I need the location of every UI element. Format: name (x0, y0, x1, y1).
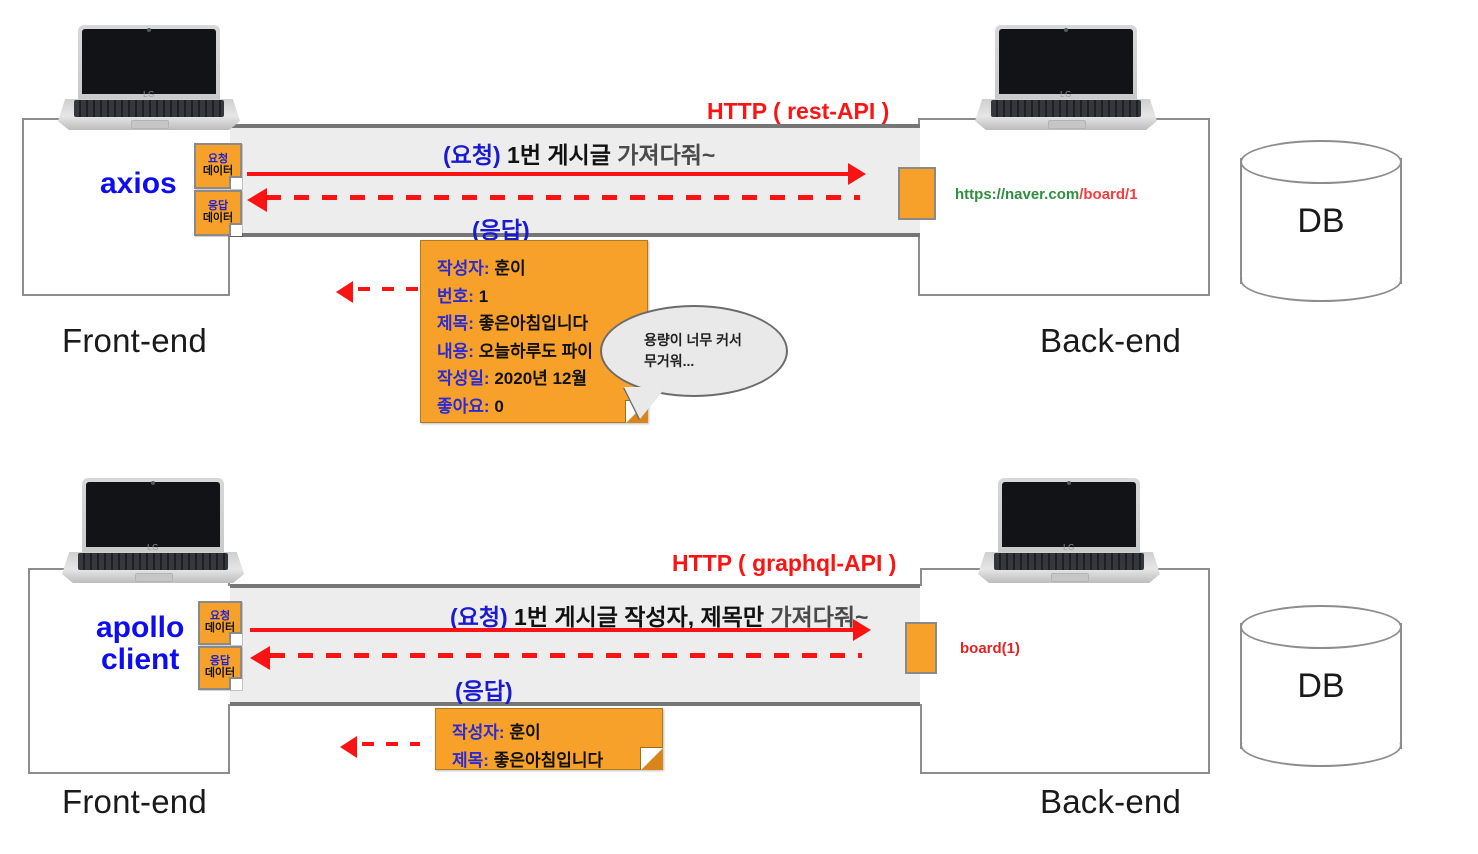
sticky-fold-corner (229, 677, 242, 690)
request-arrow-head-graphql (853, 619, 871, 641)
card-row-value: 훈이 (494, 259, 525, 278)
laptop-camera-icon (1067, 481, 1071, 485)
client-label-line1: apollo (96, 612, 184, 644)
response-arrow-head-rest (247, 188, 267, 212)
laptop-trackpad (1051, 573, 1089, 582)
payload-arrow-head-rest (336, 281, 353, 303)
laptop-keyboard (78, 553, 227, 570)
frontend-label-rest: Front-end (62, 322, 207, 360)
laptop-brand-logo: LG (147, 543, 159, 552)
backend-box-graphql-left-upper (920, 568, 922, 586)
backend-box-rest (918, 118, 1210, 296)
database-cylinder-rest: DB (1240, 140, 1402, 302)
payload-arrow-line-rest (358, 287, 420, 291)
request-message-rest: (요청) 1번 게시글 가져다줘~ (443, 136, 715, 170)
sticky-fold-corner (229, 632, 242, 645)
card-row: 작성자: 훈이 (437, 255, 647, 283)
laptop-lid: LG (78, 25, 220, 101)
response-payload-card-graphql: 작성자: 훈이 제목: 좋은아침입니다 (435, 708, 663, 770)
request-rest: 가져다줘~ (617, 142, 715, 168)
laptop-trackpad (131, 120, 169, 129)
bubble-tail (624, 387, 666, 419)
card-row-label: 작성자: (452, 723, 505, 742)
http-title-rest: HTTP ( rest-API ) (707, 98, 889, 125)
url-base: https://naver.com (955, 186, 1079, 203)
card-row-value: 좋은아침입니다 (494, 751, 603, 770)
laptop-keyboard (991, 100, 1140, 117)
card-row-label: 내용: (437, 342, 474, 361)
complaint-speech-bubble: 용량이 너무 커서 무거워... (600, 305, 788, 397)
card-row-label: 좋아요: (437, 397, 490, 416)
url-path: /board/1 (1079, 186, 1137, 203)
laptop-base (978, 552, 1160, 584)
payload-arrow-line-graphql (362, 742, 420, 746)
sticky-fold-corner (229, 223, 242, 236)
request-arrow-line-graphql (250, 628, 855, 632)
sticky-request-data-graphql: 요청 데이터 (198, 601, 242, 645)
card-row-label: 제목: (452, 751, 489, 770)
card-row-value: 2020년 12월 (494, 369, 587, 388)
db-label: DB (1240, 605, 1402, 767)
request-arrow-head-rest (848, 163, 866, 185)
laptop-trackpad (135, 573, 173, 582)
sticky-request-data-rest: 요청 데이터 (194, 143, 242, 189)
frontend-box-rest-right-lower (228, 233, 230, 296)
endpoint-url-rest: https://naver.com/board/1 (955, 186, 1138, 203)
card-row: 작성자: 훈이 (452, 719, 662, 747)
diagram-canvas: LG LG DB HTTP ( rest-API ) axios 요청 데이터 (0, 0, 1478, 854)
card-row-label: 제목: (437, 314, 474, 333)
backend-label-rest: Back-end (1040, 322, 1181, 360)
client-library-label-apollo: apollo client (96, 612, 184, 675)
response-arrow-head-graphql (250, 646, 270, 670)
frontend-box-graphql-right-lower (228, 704, 230, 774)
card-row-value: 좋은아침입니다 (479, 314, 588, 333)
endpoint-connector-graphql (905, 622, 937, 674)
laptop-backend-rest: LG (975, 25, 1157, 130)
database-cylinder-graphql: DB (1240, 605, 1402, 767)
response-arrow-line-rest (266, 195, 860, 200)
laptop-keyboard (994, 553, 1143, 570)
laptop-screen (82, 29, 216, 94)
card-row-label: 작성자: (437, 259, 490, 278)
card-row-value: 훈이 (509, 723, 540, 742)
laptop-screen (999, 29, 1133, 94)
card-row-value: 1 (479, 287, 488, 306)
endpoint-operation-graphql: board(1) (960, 640, 1020, 657)
card-row-label: 작성일: (437, 369, 490, 388)
frontend-label-graphql: Front-end (62, 783, 207, 821)
laptop-frontend-rest: LG (58, 25, 240, 130)
sticky-response-data-rest: 응답 데이터 (194, 190, 242, 236)
laptop-trackpad (1048, 120, 1086, 129)
laptop-screen (1002, 482, 1136, 547)
laptop-keyboard (74, 100, 223, 117)
card-row-label: 번호: (437, 287, 474, 306)
laptop-camera-icon (151, 481, 155, 485)
laptop-base (975, 99, 1157, 131)
payload-arrow-head-graphql (340, 736, 357, 758)
card-row: 번호: 1 (437, 283, 647, 311)
backend-box-rest-left-lower (918, 233, 920, 296)
laptop-lid: LG (995, 25, 1137, 101)
request-prefix: (요청) (443, 142, 501, 168)
sticky-response-data-graphql: 응답 데이터 (198, 646, 242, 690)
laptop-camera-icon (1064, 28, 1068, 32)
laptop-base (62, 552, 244, 584)
backend-box-graphql-left-lower (920, 704, 922, 774)
client-label-line2: client (96, 644, 184, 676)
laptop-lid: LG (82, 478, 224, 554)
client-library-label-axios: axios (100, 168, 177, 200)
http-title-graphql: HTTP ( graphql-API ) (672, 550, 896, 577)
sticky-fold-corner (229, 176, 242, 189)
card-fold-corner (640, 747, 663, 770)
response-arrow-line-graphql (270, 653, 862, 658)
laptop-brand-logo: LG (1063, 543, 1075, 552)
backend-label-graphql: Back-end (1040, 783, 1181, 821)
db-label: DB (1240, 140, 1402, 302)
request-message-graphql: (요청) 1번 게시글 작성자, 제목만 가져다줘~ (450, 598, 868, 632)
response-label: (응답) (455, 678, 513, 704)
laptop-lid: LG (998, 478, 1140, 554)
card-row-value: 오늘하루도 파이 (479, 342, 593, 361)
laptop-camera-icon (147, 28, 151, 32)
backend-box-graphql (920, 568, 1210, 774)
laptop-base (58, 99, 240, 131)
laptop-backend-graphql: LG (978, 478, 1160, 583)
request-emphasis: 1번 게시글 작성자, 제목만 (514, 604, 764, 630)
laptop-brand-logo: LG (143, 90, 155, 99)
response-message-graphql: (응답) (455, 672, 513, 706)
laptop-screen (86, 482, 220, 547)
card-row: 좋아요: 0 (437, 393, 647, 421)
laptop-frontend-graphql: LG (62, 478, 244, 583)
request-prefix: (요청) (450, 604, 508, 630)
card-row: 제목: 좋은아침입니다 (452, 747, 662, 775)
card-row-value: 0 (494, 397, 503, 416)
request-emphasis: 1번 게시글 (507, 142, 611, 168)
bubble-text: 용량이 너무 커서 무거워... (602, 330, 742, 372)
laptop-brand-logo: LG (1060, 90, 1072, 99)
request-arrow-line-rest (247, 172, 850, 176)
endpoint-connector-rest (898, 167, 936, 220)
